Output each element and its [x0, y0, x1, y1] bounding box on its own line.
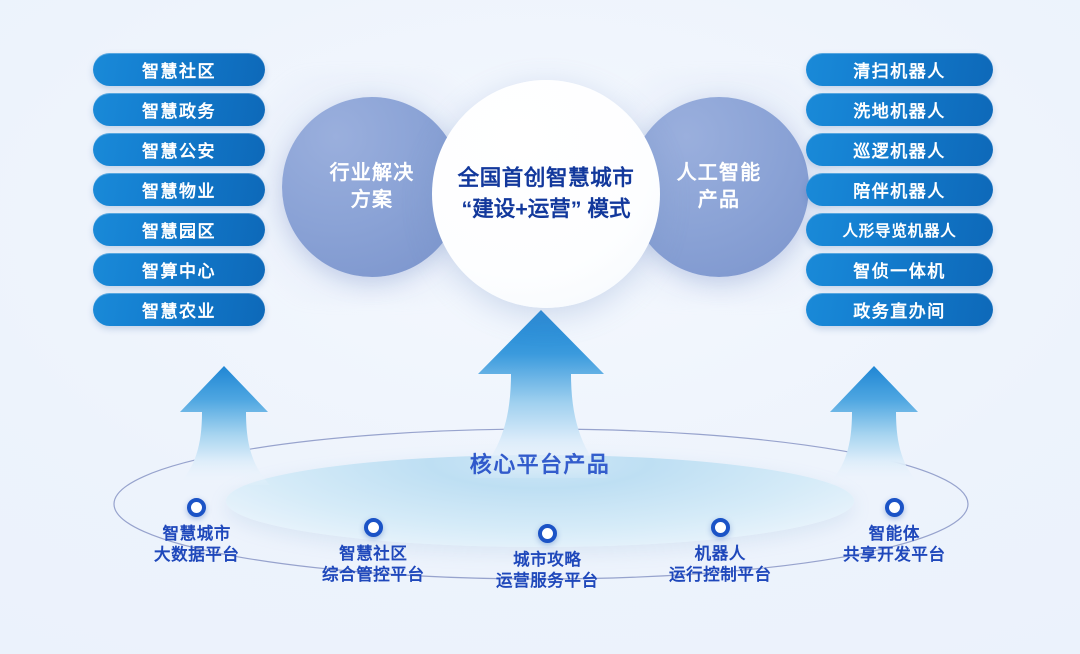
platform-node-2-line1: 智慧社区: [322, 544, 425, 565]
left-pill-6-label: 智算中心: [142, 257, 216, 282]
circle-industry-solutions-line2: 方案: [351, 187, 393, 214]
platform-node-5-line2: 共享开发平台: [843, 545, 946, 566]
right-pill-5[interactable]: 人形导览机器人: [806, 213, 993, 246]
circle-ai-products-line2: 产品: [698, 187, 740, 214]
right-pill-2-label: 洗地机器人: [853, 97, 946, 122]
right-pill-3-label: 巡逻机器人: [853, 137, 946, 162]
left-pill-2[interactable]: 智慧政务: [93, 93, 265, 126]
right-pill-5-label: 人形导览机器人: [842, 219, 956, 241]
left-pill-2-label: 智慧政务: [142, 97, 216, 122]
circle-center-line2: “建设+运营” 模式: [461, 194, 630, 225]
left-pill-7-label: 智慧农业: [142, 297, 216, 322]
platform-node-1-line1: 智慧城市: [154, 524, 240, 545]
platform-node-1[interactable]: 智慧城市 大数据平台: [154, 498, 240, 567]
core-platform-label: 核心平台产品: [0, 447, 1080, 479]
platform-node-2[interactable]: 智慧社区 综合管控平台: [322, 518, 425, 587]
node-dot-icon: [885, 498, 904, 517]
right-pill-7[interactable]: 政务直办间: [806, 293, 993, 326]
right-pill-1[interactable]: 清扫机器人: [806, 53, 993, 86]
right-pill-3[interactable]: 巡逻机器人: [806, 133, 993, 166]
platform-node-5[interactable]: 智能体 共享开发平台: [843, 498, 946, 567]
infographic-canvas: 智慧社区 智慧政务 智慧公安 智慧物业 智慧园区 智算中心 智慧农业 清扫机器人…: [0, 0, 1080, 654]
platform-node-3-line2: 运营服务平台: [496, 571, 599, 592]
right-pill-4[interactable]: 陪伴机器人: [806, 173, 993, 206]
left-pill-6[interactable]: 智算中心: [93, 253, 265, 286]
right-pill-6[interactable]: 智侦一体机: [806, 253, 993, 286]
left-pill-1-label: 智慧社区: [142, 57, 216, 82]
right-pill-4-label: 陪伴机器人: [853, 177, 946, 202]
platform-node-3[interactable]: 城市攻略 运营服务平台: [496, 524, 599, 593]
platform-node-4-line1: 机器人: [669, 544, 772, 565]
left-pill-3-label: 智慧公安: [142, 137, 216, 162]
platform-node-1-line2: 大数据平台: [154, 545, 240, 566]
platform-node-4[interactable]: 机器人 运行控制平台: [669, 518, 772, 587]
platform-node-2-line2: 综合管控平台: [322, 565, 425, 586]
left-pill-7[interactable]: 智慧农业: [93, 293, 265, 326]
left-pill-4-label: 智慧物业: [142, 177, 216, 202]
right-pill-2[interactable]: 洗地机器人: [806, 93, 993, 126]
node-dot-icon: [187, 498, 206, 517]
circle-center-line1: 全国首创智慧城市: [458, 163, 635, 194]
left-pill-5-label: 智慧园区: [142, 217, 216, 242]
node-dot-icon: [538, 524, 557, 543]
right-pill-6-label: 智侦一体机: [853, 257, 946, 282]
left-pill-5[interactable]: 智慧园区: [93, 213, 265, 246]
left-pill-1[interactable]: 智慧社区: [93, 53, 265, 86]
circle-center-model[interactable]: 全国首创智慧城市 “建设+运营” 模式: [432, 80, 660, 308]
node-dot-icon: [364, 518, 383, 537]
platform-node-5-line1: 智能体: [843, 524, 946, 545]
circle-ai-products-line1: 人工智能: [677, 160, 762, 187]
right-pill-7-label: 政务直办间: [853, 297, 946, 322]
platform-node-4-line2: 运行控制平台: [669, 565, 772, 586]
circle-industry-solutions-line1: 行业解决: [330, 160, 415, 187]
platform-node-3-line1: 城市攻略: [496, 550, 599, 571]
left-pill-4[interactable]: 智慧物业: [93, 173, 265, 206]
left-pill-3[interactable]: 智慧公安: [93, 133, 265, 166]
node-dot-icon: [711, 518, 730, 537]
right-pill-1-label: 清扫机器人: [853, 57, 946, 82]
